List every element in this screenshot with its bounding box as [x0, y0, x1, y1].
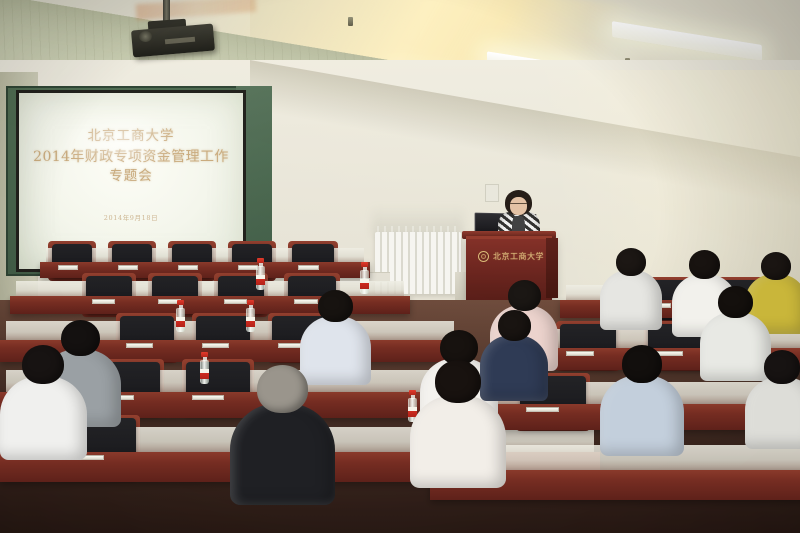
desk-nameplate: [224, 299, 247, 304]
wall-outlet-plate: [485, 184, 499, 202]
attendee-head: [22, 345, 64, 384]
desk-nameplate: [298, 265, 319, 270]
desk-nameplate: [92, 299, 115, 304]
desk-nameplate: [126, 343, 153, 348]
attendee-head: [761, 252, 791, 280]
attendee-torso: [600, 270, 662, 330]
attendee-head: [257, 365, 308, 413]
desk-nameplate: [178, 265, 198, 270]
bottle-label: [200, 369, 209, 379]
desk-nameplate: [58, 265, 78, 270]
attendee-red-white-striped-blouse: [410, 360, 506, 496]
attendee-head: [508, 280, 541, 311]
attendee-torso: [230, 403, 335, 505]
attendee-striped-top-right: [745, 350, 800, 456]
attendee-head: [498, 310, 531, 341]
attendee-white-shirt-front-left: [0, 345, 87, 468]
bottle-label: [246, 317, 255, 327]
attendee-bald-grey-hair: [230, 365, 335, 515]
desk-nameplate: [566, 351, 594, 356]
projector-hotspot: [59, 111, 182, 173]
bottle-label: [360, 279, 369, 289]
attendee-head: [435, 360, 482, 403]
attendee-torso: [600, 375, 684, 456]
attendee-head: [616, 248, 646, 276]
conference-room-photo: 北京工商大学 2014年财政专项资金管理工作 专题会 2014年9月18日 北京…: [0, 0, 800, 533]
bottle-label: [176, 317, 185, 327]
attendee-head: [318, 290, 353, 322]
desk-nameplate: [118, 265, 138, 270]
attendee-torso: [410, 395, 506, 488]
slide-date: 2014年9月18日: [104, 212, 158, 222]
attendee-torso: [745, 377, 800, 449]
desk-nameplate: [192, 395, 224, 400]
attendee-head: [718, 286, 753, 318]
attendee-torso: [0, 376, 87, 460]
podium-organization-name: 北京工商大学: [493, 251, 545, 262]
university-seal-icon: [478, 251, 489, 262]
desk-nameplate: [238, 265, 258, 270]
bottle-label: [256, 275, 265, 285]
desk-nameplate: [526, 407, 559, 412]
desk-nameplate: [202, 343, 229, 348]
attendee-white-shirt-back: [600, 248, 662, 336]
attendee-head: [622, 345, 663, 383]
attendee-head: [764, 350, 800, 384]
eyeglasses-icon: [510, 203, 527, 207]
attendee-checked-shirt: [600, 345, 684, 464]
sprinkler-head-icon: [348, 17, 353, 26]
attendee-head: [689, 250, 721, 279]
